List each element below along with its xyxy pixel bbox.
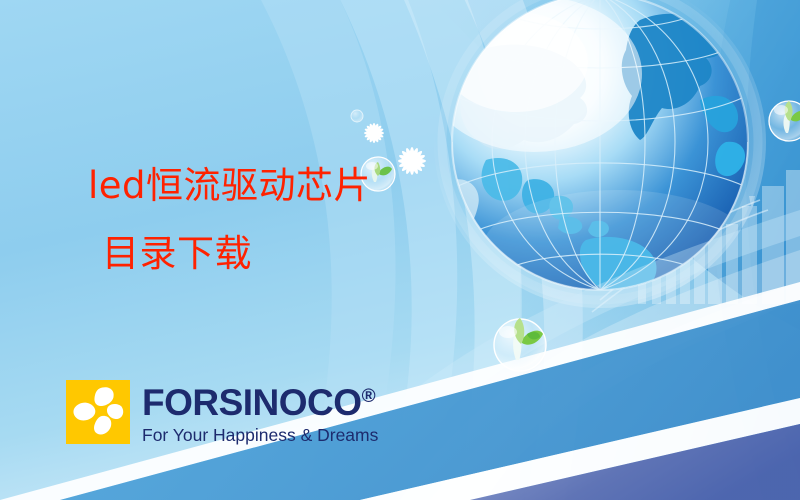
- logo-wordmark-name: FORSINOCO: [142, 382, 362, 423]
- company-logo: FORSINOCO® For Your Happiness & Dreams: [66, 378, 378, 445]
- four-petal-pinwheel-icon: [66, 380, 130, 444]
- bubble-with-sprout-2: [494, 318, 546, 371]
- sparkle-icon: [398, 147, 426, 175]
- logo-tagline: For Your Happiness & Dreams: [142, 425, 378, 445]
- bubble-with-sprout-1: [361, 157, 395, 191]
- sparkle-icon: [364, 123, 384, 143]
- registered-trademark-icon: ®: [362, 386, 376, 407]
- banner-image: led恒流驱动芯片 目录下载 FORSINOCO® For Your Happi…: [0, 0, 800, 500]
- bubble-small: [351, 110, 363, 122]
- logo-text-block: FORSINOCO® For Your Happiness & Dreams: [142, 378, 378, 445]
- logo-wordmark: FORSINOCO®: [142, 378, 378, 422]
